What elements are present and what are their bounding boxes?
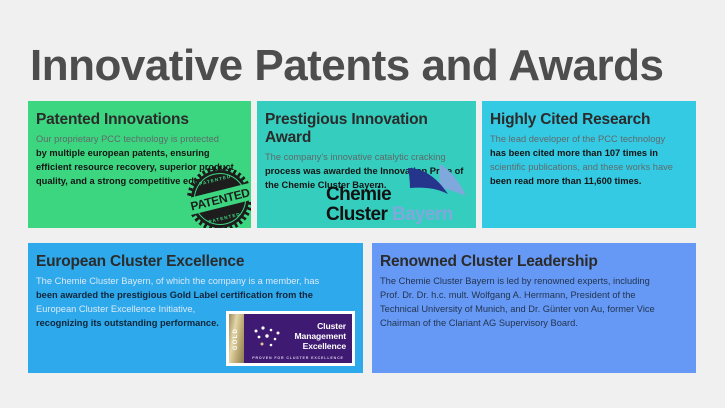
cluster-management-excellence-badge: GOLD Cluster Management Excell — [226, 311, 355, 366]
logo-line-cluster-bayern: Cluster Bayern — [326, 205, 453, 224]
body-line: The Chemie Cluster Bayern is led by reno… — [380, 274, 688, 288]
badge-main-panel: Cluster Management Excellence PROVEN FOR… — [244, 314, 352, 363]
card-body: The Chemie Cluster Bayern is led by reno… — [380, 274, 688, 331]
card-title: Prestigious Innovation Award — [265, 111, 468, 147]
logo-line-chemie: Chemie — [326, 185, 453, 204]
body-line: The lead developer of the PCC technology — [490, 132, 688, 146]
body-line: Technical University of Munich, and Dr. … — [380, 302, 688, 316]
gold-label-text: GOLD — [234, 327, 240, 349]
card-title: European Cluster Excellence — [36, 253, 355, 271]
card-title: Renowned Cluster Leadership — [380, 253, 688, 271]
card-title: Patented Innovations — [36, 111, 243, 129]
gold-label-strip: GOLD — [229, 314, 244, 363]
body-line: Chairman of the Clariant AG Supervisory … — [380, 316, 688, 330]
card-body: The lead developer of the PCC technology… — [490, 132, 688, 189]
body-line: Prof. Dr. Dr. h.c. mult. Wolfgang A. Her… — [380, 288, 688, 302]
body-line: been read more than 11,600 times. — [490, 174, 688, 188]
body-line: been awarded the prestigious Gold Label … — [36, 288, 355, 302]
card-prestigious-innovation-award[interactable]: Prestigious Innovation Award The company… — [257, 101, 476, 228]
card-patented-innovations[interactable]: Patented Innovations Our proprietary PCC… — [28, 101, 251, 228]
body-line: The Chemie Cluster Bayern, of which the … — [36, 274, 355, 288]
card-highly-cited-research[interactable]: Highly Cited Research The lead developer… — [482, 101, 696, 228]
chemie-cluster-bayern-logo: Chemie Cluster Bayern — [326, 164, 470, 226]
card-title: Highly Cited Research — [490, 111, 688, 129]
slide-root: Innovative Patents and Awards Patented I… — [0, 0, 725, 408]
body-line: by multiple european patents, ensuring — [36, 146, 243, 160]
card-european-cluster-excellence[interactable]: European Cluster Excellence The Chemie C… — [28, 243, 363, 373]
body-line: scientific publications, and these works… — [490, 160, 688, 174]
card-renowned-cluster-leadership[interactable]: Renowned Cluster Leadership The Chemie C… — [372, 243, 696, 373]
constellation-dots-icon — [251, 325, 285, 349]
badge-tagline: PROVEN FOR CLUSTER EXCELLENCE — [244, 356, 352, 360]
body-line: has been cited more than 107 times in — [490, 146, 688, 160]
logo-wordmark: Chemie Cluster Bayern — [326, 185, 453, 224]
body-line: Our proprietary PCC technology is protec… — [36, 132, 243, 146]
page-title: Innovative Patents and Awards — [30, 44, 663, 88]
